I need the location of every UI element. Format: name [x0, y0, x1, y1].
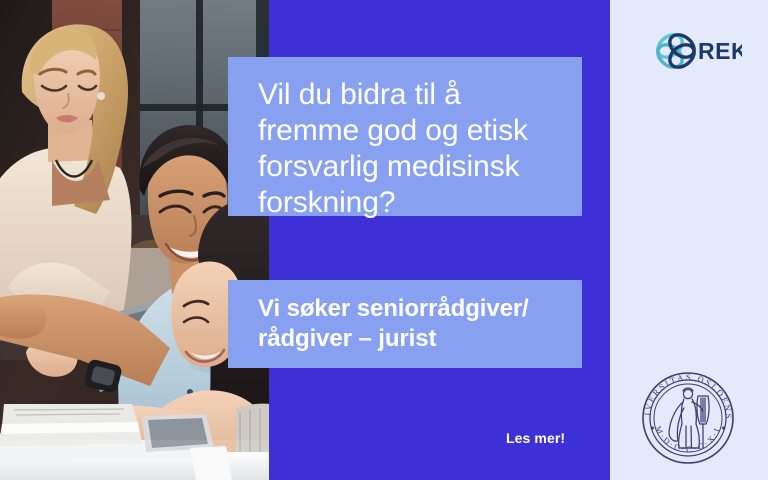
subheadline-box: Vi søker seniorrådgiver/ rådgiver – juri…: [228, 280, 582, 368]
job-advert-banner: Vil du bidra til å fremme god og etisk f…: [0, 0, 768, 480]
apollo-figure-icon: [669, 388, 709, 448]
uio-seal: UNIVERSITAS OSLOENSIS M·D·C·C·C·X·I: [636, 366, 740, 470]
uio-seal-top-legend: UNIVERSITAS OSLOENSIS: [636, 366, 733, 421]
rek-logo-svg: REK: [650, 26, 742, 72]
uio-seal-svg: UNIVERSITAS OSLOENSIS M·D·C·C·C·X·I: [636, 366, 740, 470]
rek-logo[interactable]: REK: [650, 26, 742, 72]
headline-text: Vil du bidra til å fremme god og etisk f…: [258, 77, 556, 221]
subheadline-text: Vi søker seniorrådgiver/ rådgiver – juri…: [258, 294, 556, 354]
headline-box: Vil du bidra til å fremme god og etisk f…: [228, 57, 582, 216]
uio-seal-bottom-legend: M·D·C·C·C·X·I: [653, 425, 722, 454]
les-mer-link[interactable]: Les mer!: [506, 430, 565, 446]
rek-rings-icon: [654, 30, 699, 72]
rek-wordmark: REK: [698, 38, 742, 64]
